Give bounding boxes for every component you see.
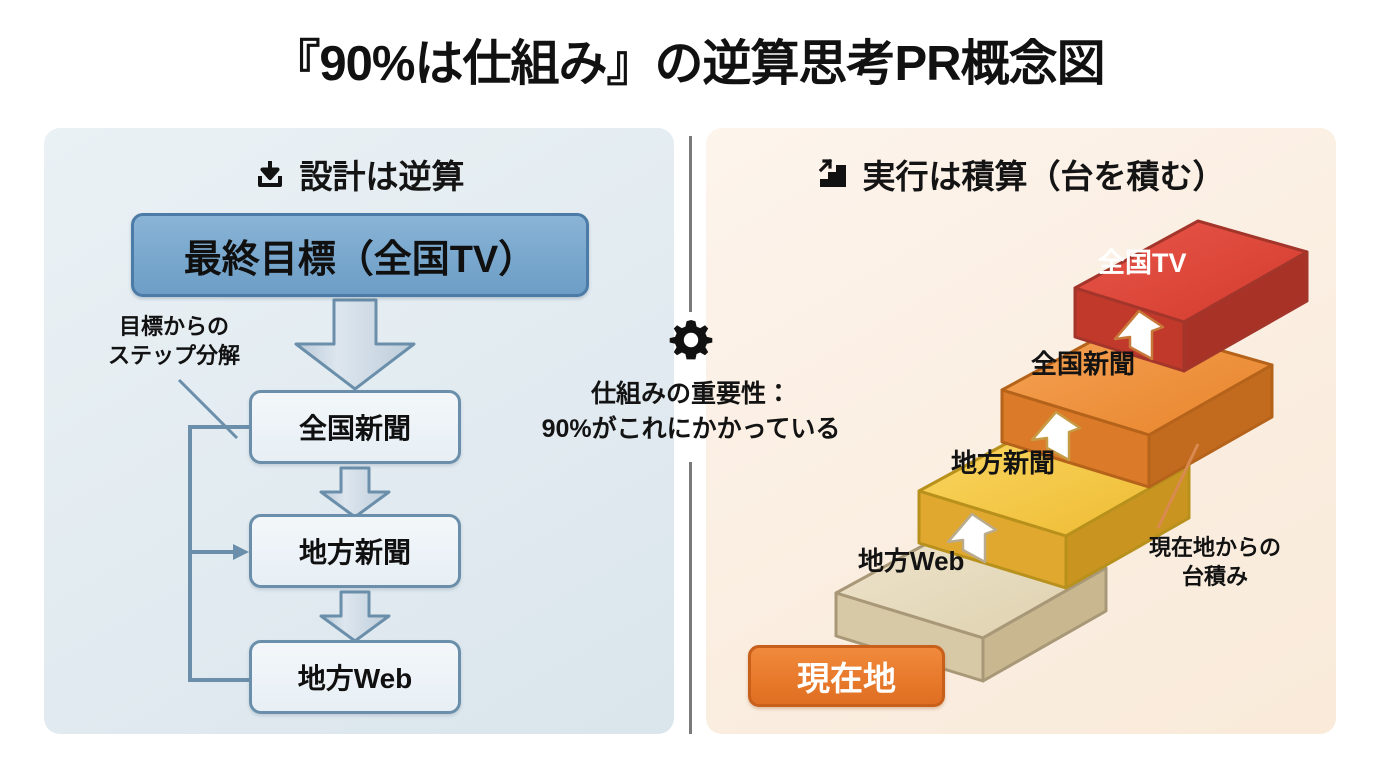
step-box-local-web[interactable]: 地方Web [249,640,461,714]
step-box-national-newspaper[interactable]: 全国新聞 [249,390,461,464]
flow-arrow-goal-to-step1 [290,298,420,397]
center-note-text: 仕組みの重要性： 90%がこれにかかっている [515,377,867,446]
step-box-label: 地方Web [298,657,413,697]
current-location-label: 現在地 [797,652,896,700]
block-label-national-newspaper: 全国新聞 [1031,344,1135,381]
block-label-local-newspaper: 地方新聞 [951,443,1055,480]
gear-icon [515,316,867,369]
goal-box[interactable]: 最終目標（全国TV） [131,213,589,297]
panel-divider-top [689,136,692,312]
block-label-local-web: 地方Web [858,541,964,578]
left-annotation: 目標からの ステップ分解 [74,312,274,370]
diagram-canvas: 『90%は仕組み』の逆算思考PR概念図 設計は逆算 最終目標（全国TV） [0,0,1376,768]
right-annotation: 現在地からの 台積み [1120,533,1310,592]
step-box-label: 地方新聞 [299,531,411,571]
page-title: 『90%は仕組み』の逆算思考PR概念図 [0,24,1376,95]
left-panel-header: 設計は逆算 [44,150,674,198]
download-icon [254,158,286,190]
goal-box-label: 最終目標（全国TV） [184,228,537,283]
step-box-label: 全国新聞 [299,407,411,447]
step-box-local-newspaper[interactable]: 地方新聞 [249,514,461,588]
block-label-national-tv: 全国TV [1098,241,1187,280]
left-panel-header-label: 設計は逆算 [300,150,465,198]
right-annotation-leader-line [1150,440,1220,540]
current-location-badge[interactable]: 現在地 [748,645,945,707]
center-note: 仕組みの重要性： 90%がこれにかかっている [515,316,867,446]
left-annotation-leader-line [175,376,255,451]
panel-divider-bottom [689,462,692,734]
